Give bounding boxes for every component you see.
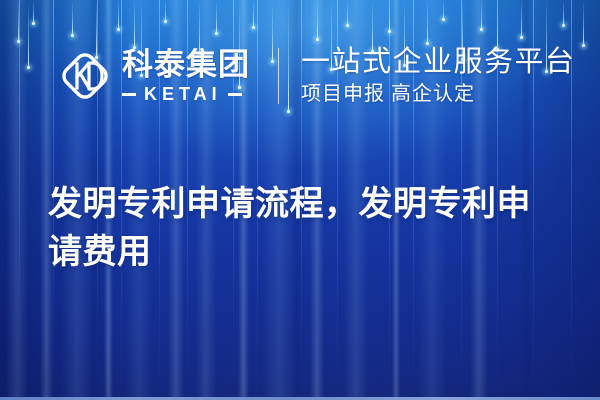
dash-right-icon xyxy=(228,93,242,96)
tagline-secondary: 项目申报 高企认定 xyxy=(301,84,576,105)
light-streak-icon xyxy=(253,0,254,28)
ketai-kd-monogram-icon xyxy=(58,49,112,103)
light-streak-icon xyxy=(521,0,522,38)
brand-wordmark: 科泰集团 KETAI xyxy=(122,49,250,103)
light-streak-icon xyxy=(389,0,390,32)
light-streak-icon xyxy=(427,0,428,44)
light-streak-icon xyxy=(563,0,564,26)
light-streak-icon xyxy=(443,0,444,20)
light-streak-icon xyxy=(481,0,482,30)
light-streak-icon xyxy=(72,0,73,36)
brand-name-en-row: KETAI xyxy=(122,85,250,103)
light-streak-icon xyxy=(216,0,217,34)
promo-banner: 科泰集团 KETAI 一站式企业服务平台 项目申报 高企认定 发明专利申请流程，… xyxy=(0,0,600,400)
light-streak-icon xyxy=(28,0,29,68)
light-streak-icon xyxy=(583,0,584,46)
light-streak-icon xyxy=(118,0,119,30)
tagline-primary: 一站式企业服务平台 xyxy=(301,47,576,77)
brand-name-en: KETAI xyxy=(136,85,228,103)
page-title: 发明专利申请流程，发明专利申请费用 xyxy=(48,180,558,276)
light-streak-icon xyxy=(165,0,166,22)
light-streak-icon xyxy=(317,0,318,40)
banner-header: 科泰集团 KETAI 一站式企业服务平台 项目申报 高企认定 xyxy=(58,40,576,112)
light-streak-icon xyxy=(33,0,34,24)
dash-left-icon xyxy=(122,93,136,96)
brand-logo[interactable]: 科泰集团 KETAI xyxy=(58,49,250,103)
brand-tagline: 一站式企业服务平台 项目申报 高企认定 xyxy=(301,47,576,105)
brand-name-cn: 科泰集团 xyxy=(122,49,250,80)
light-streak-icon xyxy=(18,0,19,42)
header-divider xyxy=(278,48,279,104)
light-streak-icon xyxy=(347,0,348,26)
